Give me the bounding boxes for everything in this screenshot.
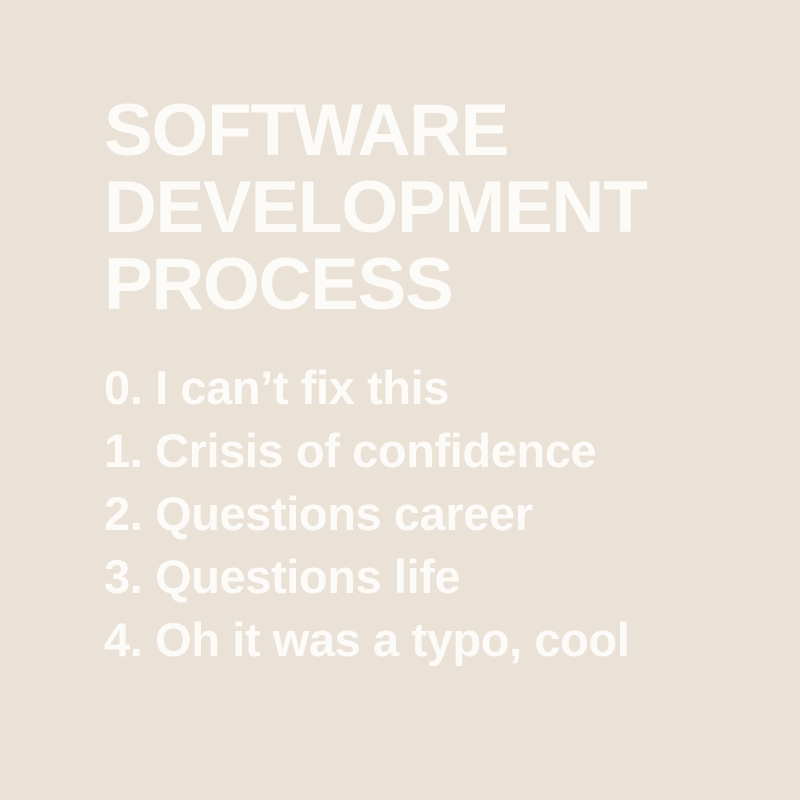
title-line-1: SOFTWARE [104,92,724,169]
step-number: 3. [104,550,155,603]
page-title: SOFTWARE DEVELOPMENT PROCESS [104,92,724,323]
step-label: I can’t fix this [155,361,449,414]
step-label: Crisis of confidence [155,424,596,477]
poster-content: SOFTWARE DEVELOPMENT PROCESS 0. I can’t … [104,92,724,671]
poster-canvas: SOFTWARE DEVELOPMENT PROCESS 0. I can’t … [0,0,800,800]
list-item: 1. Crisis of confidence [104,419,724,482]
step-number: 2. [104,487,155,540]
process-step-list: 0. I can’t fix this 1. Crisis of confide… [104,356,724,671]
list-item: 0. I can’t fix this [104,356,724,419]
step-number: 4. [104,613,155,666]
list-item: 2. Questions career [104,482,724,545]
step-label: Questions life [155,550,460,603]
step-label: Questions career [155,487,533,540]
step-number: 1. [104,424,155,477]
step-number: 0. [104,361,155,414]
title-line-2: DEVELOPMENT [104,169,724,246]
list-item: 3. Questions life [104,545,724,608]
list-item: 4. Oh it was a typo, cool [104,608,724,671]
title-line-3: PROCESS [104,246,724,323]
step-label: Oh it was a typo, cool [155,613,629,666]
